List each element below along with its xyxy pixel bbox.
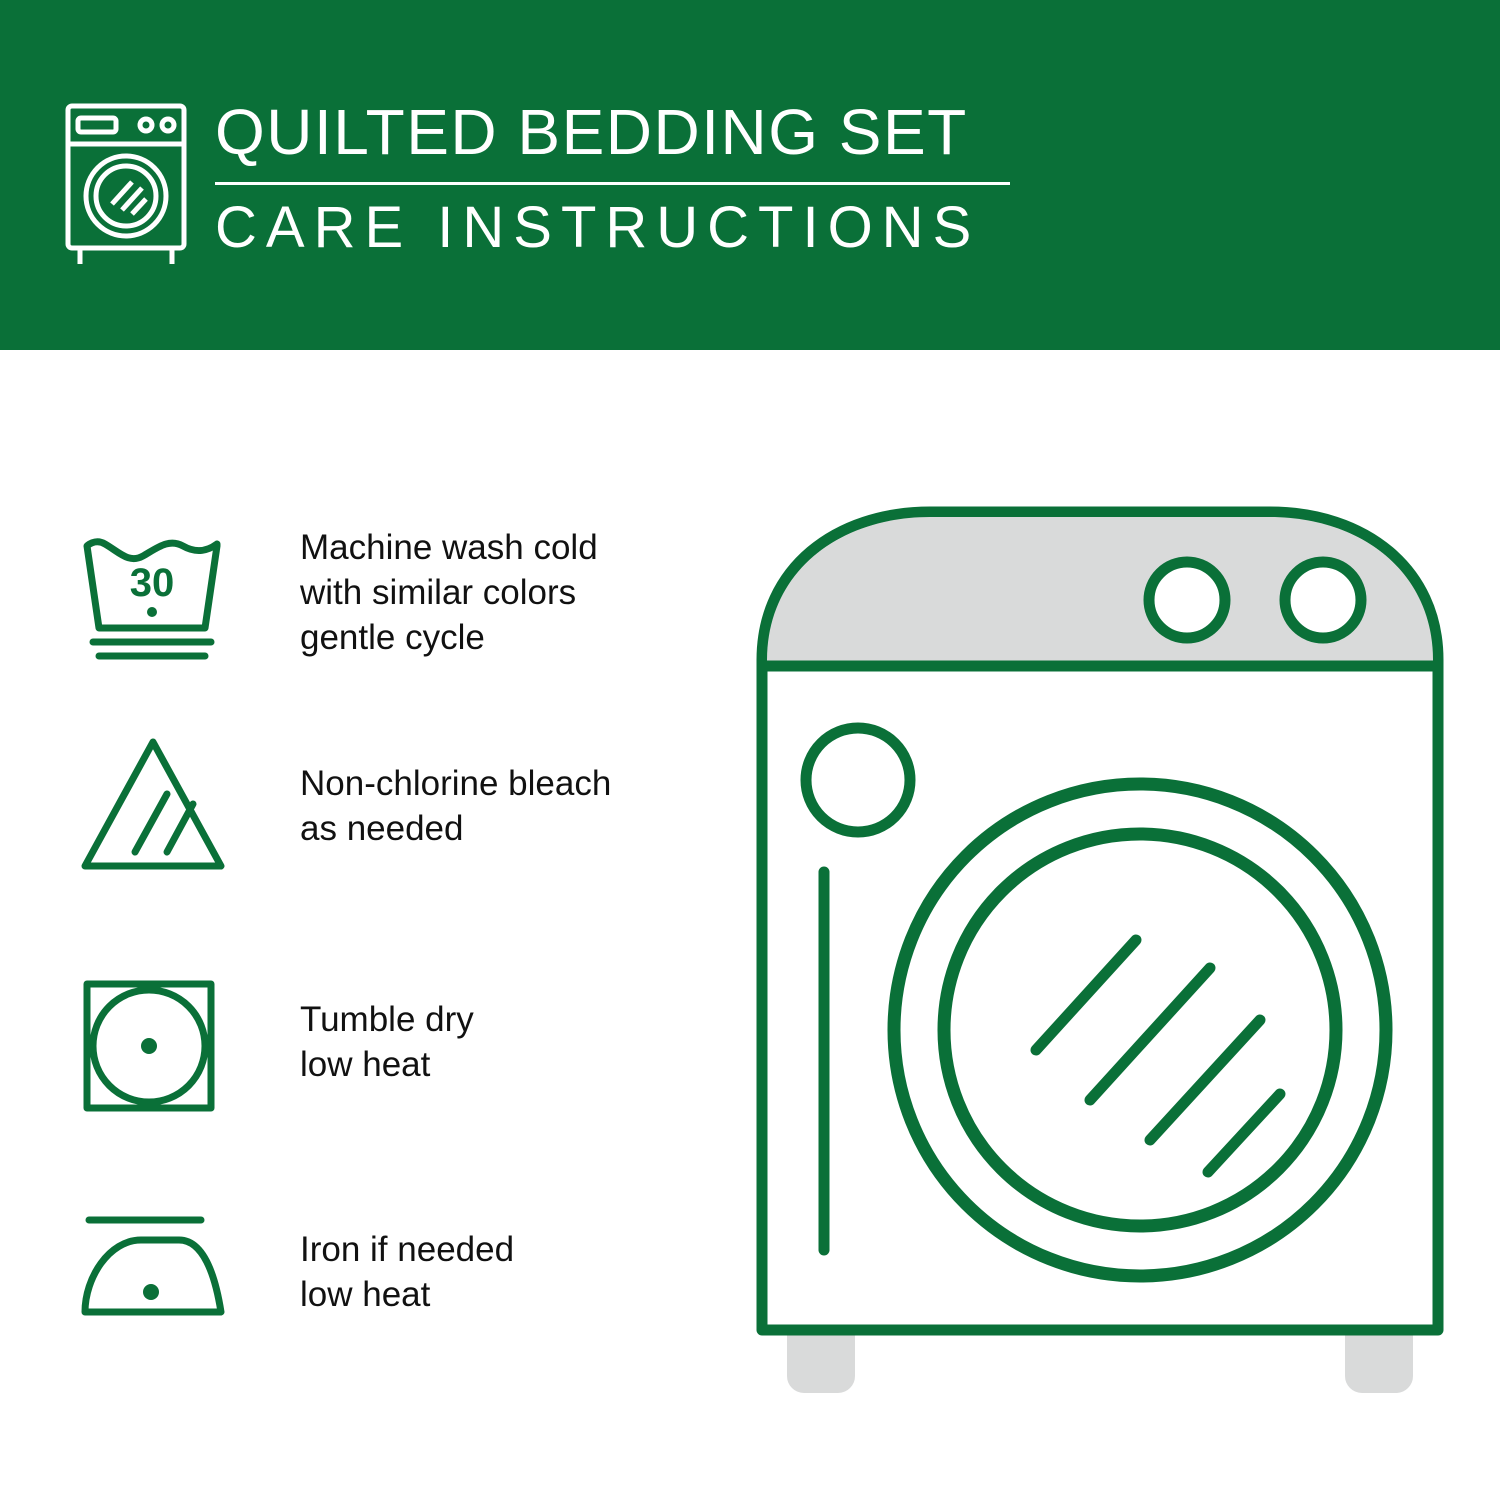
care-label-tumble-dry: Tumble dry low heat <box>300 998 474 1088</box>
page-title: QUILTED BEDDING SET <box>215 100 1115 164</box>
care-label-line: with similar colors <box>300 571 598 616</box>
care-label-line: Iron if needed <box>300 1228 514 1273</box>
wash-temperature-value: 30 <box>130 561 175 605</box>
care-label-line: Tumble dry <box>300 998 474 1043</box>
care-label-machine-wash: Machine wash cold with similar colors ge… <box>300 526 598 660</box>
care-label-line: gentle cycle <box>300 616 598 661</box>
wash-tub-30-icon: 30 <box>75 524 235 674</box>
washing-machine-icon <box>62 100 202 270</box>
care-label-bleach: Non-chlorine bleach as needed <box>300 762 611 852</box>
page-subtitle: CARE INSTRUCTIONS <box>215 199 1115 257</box>
care-label-iron: Iron if needed low heat <box>300 1228 514 1318</box>
header-text-block: QUILTED BEDDING SET CARE INSTRUCTIONS <box>215 100 1115 257</box>
header-banner: QUILTED BEDDING SET CARE INSTRUCTIONS <box>0 0 1500 350</box>
iron-icon <box>75 1200 235 1350</box>
care-label-line: Machine wash cold <box>300 526 598 571</box>
triangle-bleach-icon <box>75 732 235 882</box>
care-label-line: as needed <box>300 807 611 852</box>
care-instruction-list: 30 Machine wash cold with similar colors… <box>0 500 740 1400</box>
tumble-dry-icon <box>75 972 235 1122</box>
care-instructions-page: QUILTED BEDDING SET CARE INSTRUCTIONS 30 <box>0 0 1500 1500</box>
care-label-line: low heat <box>300 1043 474 1088</box>
front-load-washing-machine-illustration <box>740 490 1460 1410</box>
title-divider <box>215 182 1010 185</box>
care-label-line: Non-chlorine bleach <box>300 762 611 807</box>
care-label-line: low heat <box>300 1273 514 1318</box>
